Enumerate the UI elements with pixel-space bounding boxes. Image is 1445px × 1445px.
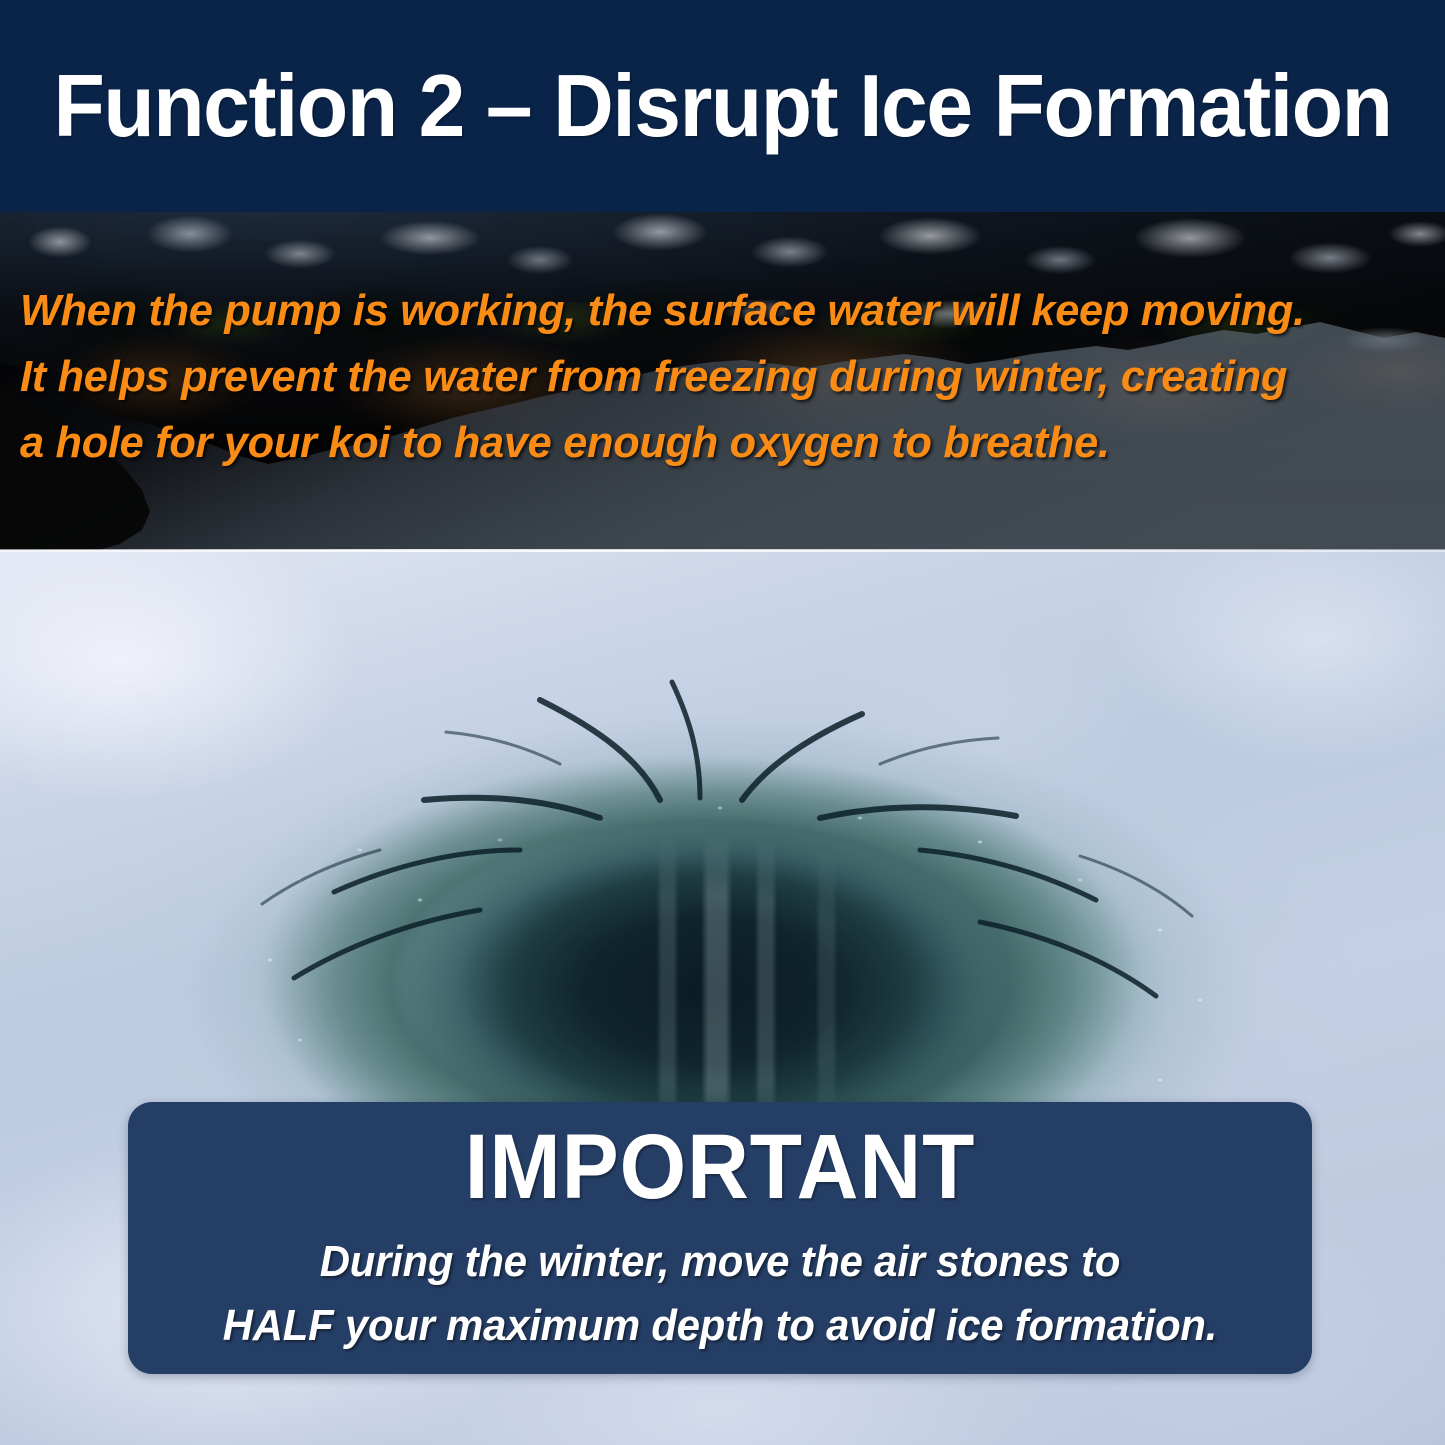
caption-line-2: It helps prevent the water from freezing… <box>20 344 1399 410</box>
top-photo-caption: When the pump is working, the surface wa… <box>20 278 1399 476</box>
important-line-2: HALF your maximum depth to avoid ice for… <box>158 1294 1283 1358</box>
important-body-text: During the winter, move the air stones t… <box>158 1230 1283 1358</box>
photo-seam-highlight <box>0 549 1445 552</box>
poster-root: Function 2 – Disrupt Ice Formation <box>0 0 1445 1445</box>
page-title: Function 2 – Disrupt Ice Formation <box>33 58 1413 154</box>
important-line-1: During the winter, move the air stones t… <box>158 1230 1283 1294</box>
caption-line-1: When the pump is working, the surface wa… <box>20 278 1399 344</box>
header-band: Function 2 – Disrupt Ice Formation <box>0 0 1445 212</box>
important-callout-card: IMPORTANT During the winter, move the ai… <box>128 1102 1312 1374</box>
important-heading: IMPORTANT <box>169 1118 1270 1216</box>
caption-line-3: a hole for your koi to have enough oxyge… <box>20 410 1399 476</box>
